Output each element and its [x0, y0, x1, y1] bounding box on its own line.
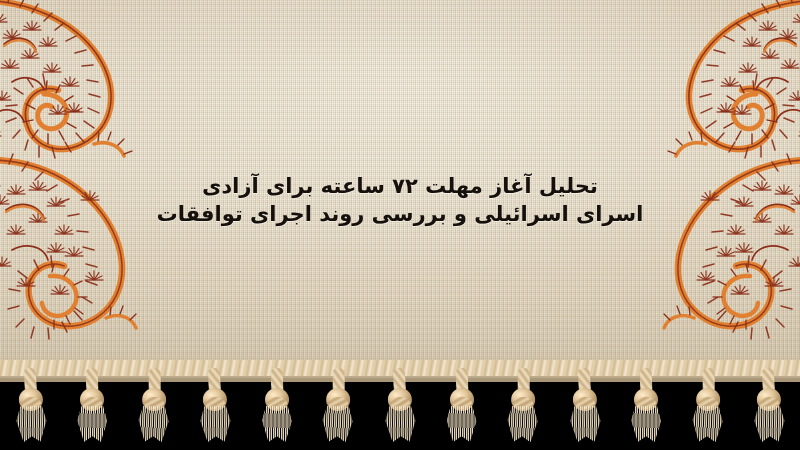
tassel-skirt: [692, 406, 723, 443]
tassel: [629, 368, 663, 442]
tassel: [320, 368, 356, 443]
tassel-skirt: [570, 406, 601, 443]
tassel-skirt: [77, 406, 107, 442]
headline-line-2: اسرای اسرائیلی و بررسی روند اجرای توافقا…: [0, 200, 800, 228]
tassel-skirt: [138, 406, 169, 443]
tassel-skirt: [16, 406, 47, 443]
tassel: [75, 368, 109, 442]
tassel: [751, 368, 787, 443]
tassel-skirt: [631, 406, 661, 442]
tassel: [197, 368, 233, 443]
tassel-skirt: [385, 406, 416, 443]
headline-line-1: تحلیل آغاز مهلت ۷۲ ساعته برای آزادی: [0, 172, 800, 200]
tassel: [505, 368, 541, 443]
tassel-fringe: [0, 360, 800, 450]
tassel: [382, 368, 418, 443]
headline-text-block: تحلیل آغاز مهلت ۷۲ ساعته برای آزادی اسرا…: [0, 172, 800, 228]
tassel: [136, 368, 172, 443]
tassel: [690, 368, 726, 443]
tassel: [567, 368, 603, 443]
tassel-skirt: [262, 406, 292, 442]
tassel: [13, 368, 49, 443]
banner-image: تحلیل آغاز مهلت ۷۲ ساعته برای آزادی اسرا…: [0, 0, 800, 450]
tassel-skirt: [754, 406, 785, 443]
tassel: [260, 368, 294, 442]
tassel: [445, 368, 479, 442]
tassel-skirt: [322, 406, 353, 443]
tassel-skirt: [200, 406, 231, 443]
tassel-skirt: [447, 406, 477, 442]
tassel-skirt: [507, 406, 538, 443]
